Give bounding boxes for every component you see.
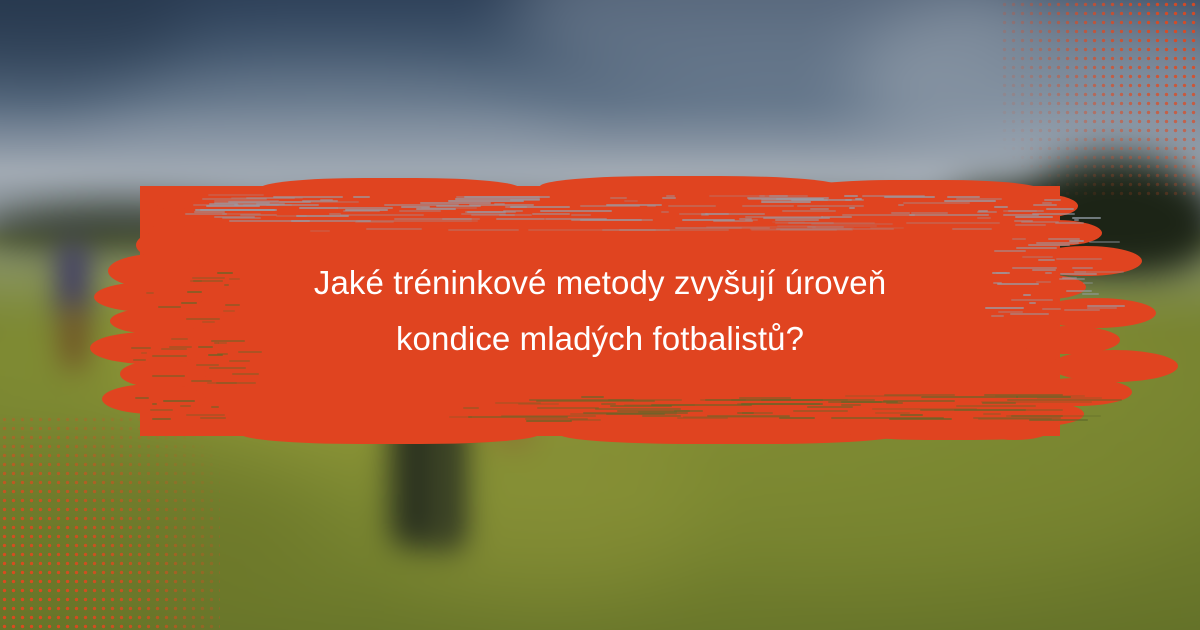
brush-texture-streak <box>1016 396 1071 398</box>
brush-texture-streak <box>1006 415 1101 417</box>
brush-texture-fleck <box>152 403 157 405</box>
headline-text-block: Jaké tréninkové metody zvyšují úroveň ko… <box>180 186 1020 436</box>
blurred-player-silhouette <box>58 242 88 314</box>
brush-texture-fleck <box>1023 294 1031 296</box>
headline-line-2: kondice mladých fotbalistů? <box>396 318 804 360</box>
headline-line-1: Jaké tréninkové metody zvyšují úroveň <box>314 262 886 304</box>
brush-texture-fleck <box>152 418 170 420</box>
brush-texture-fleck <box>1089 241 1119 243</box>
brush-texture-fleck <box>1038 259 1055 261</box>
brush-texture-fleck <box>1016 247 1057 249</box>
brush-texture-fleck <box>1042 308 1062 310</box>
brush-texture-fleck <box>1083 282 1093 284</box>
blurred-player-silhouette <box>62 306 86 368</box>
brush-texture-fleck <box>1044 199 1061 201</box>
brush-texture-fleck <box>1042 202 1051 204</box>
brush-edge-blob <box>1036 298 1156 328</box>
brush-texture-fleck <box>1036 281 1051 283</box>
brush-texture-fleck <box>1032 213 1074 215</box>
brush-texture-fleck <box>1074 219 1080 221</box>
brush-texture-fleck <box>131 347 152 349</box>
brush-texture-fleck <box>1066 290 1092 292</box>
social-share-card: Jaké tréninkové metody zvyšují úroveň ko… <box>0 0 1200 630</box>
brush-texture-fleck <box>1036 242 1079 244</box>
brush-texture-fleck <box>1055 222 1084 224</box>
brush-texture-fleck <box>1064 309 1100 311</box>
brush-texture-fleck <box>1029 302 1036 304</box>
brush-texture-fleck <box>1033 204 1057 206</box>
brush-texture-fleck <box>1015 216 1053 218</box>
brush-texture-fleck <box>1062 277 1077 279</box>
brush-texture-fleck <box>141 352 147 354</box>
brush-texture-fleck <box>1056 258 1102 260</box>
brush-texture-fleck <box>1022 256 1054 258</box>
brush-texture-fleck <box>1032 269 1056 271</box>
brush-texture-fleck <box>1028 244 1070 246</box>
brush-texture-fleck <box>1048 238 1079 240</box>
brush-texture-fleck <box>133 359 146 361</box>
brush-texture-fleck <box>158 306 181 308</box>
